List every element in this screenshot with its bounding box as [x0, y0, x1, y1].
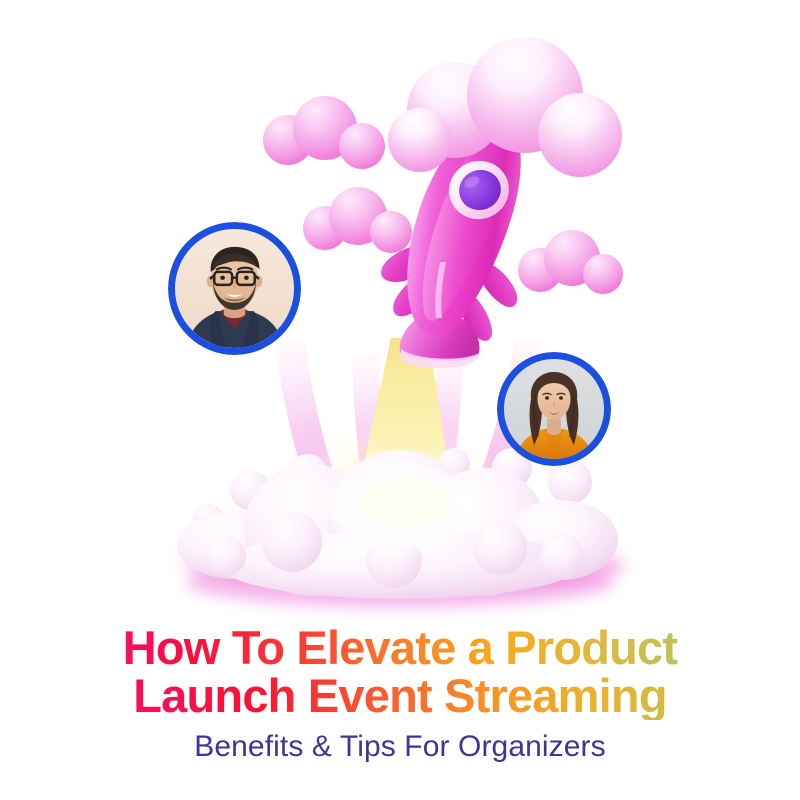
- poster-canvas: How To Elevate a Product Launch Event St…: [0, 0, 800, 800]
- cloud-small-left-upper: [263, 96, 385, 169]
- cloud-small-right: [518, 230, 623, 294]
- avatar-man[interactable]: [168, 222, 301, 355]
- cloud-small-left-lower: [303, 187, 412, 253]
- headline-line-1: How To Elevate a Product: [0, 624, 800, 672]
- avatar-woman-photo: [504, 359, 604, 459]
- cloud-base-mass: [177, 448, 625, 608]
- avatar-man-photo: [175, 229, 294, 348]
- avatar-woman[interactable]: [497, 352, 611, 466]
- headline-line-2: Launch Event Streaming: [0, 672, 800, 720]
- rocket-launch-illustration: [0, 0, 800, 620]
- text-block: How To Elevate a Product Launch Event St…: [0, 624, 800, 764]
- subtitle: Benefits & Tips For Organizers: [0, 730, 800, 764]
